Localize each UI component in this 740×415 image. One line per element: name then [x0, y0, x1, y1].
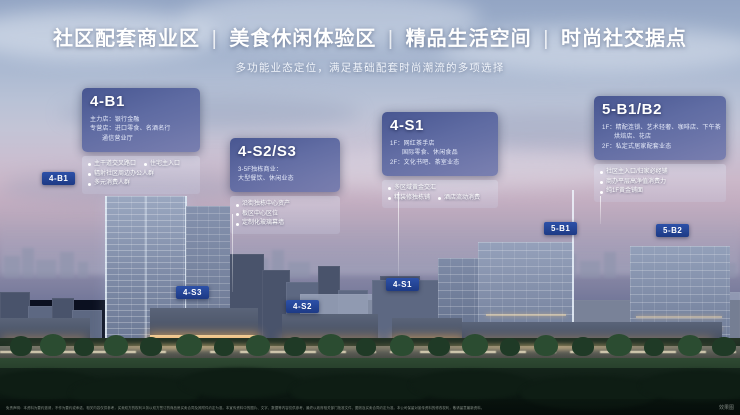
- detail-line: 3-5F独栋商业：: [238, 166, 332, 176]
- bullet-item: 定制化玻璃幕墙: [236, 219, 284, 229]
- detail-line: 2F：文化书吧、茶室业态: [390, 159, 490, 169]
- bullet-item: 酒店流动消费: [438, 194, 480, 204]
- callout-bullet-list: 社区主入口/归家必经铺 商办平层高净值消费力 纯1F黄金铺面: [594, 164, 726, 202]
- leader-line-5-b1: [600, 196, 601, 224]
- leader-line-4-s3: [232, 214, 233, 292]
- callout-code: 4-B1: [90, 94, 192, 111]
- detail-line: 大型餐饮、休闲业态: [238, 175, 332, 185]
- footer: 免责声明：本资料为要约邀请，不作为要约或承诺，相关内容仅供参考，买卖双方的权利义…: [0, 399, 740, 415]
- detail-line: 专营店：进口零食、名酒名行: [90, 125, 192, 135]
- callout-bullet-list: 多区域黄金交汇 精装修独栋铺 酒店流动消费: [382, 180, 498, 208]
- detail-line: 烘焙店、花店: [602, 133, 718, 143]
- bullet-item: 精装修独栋铺: [388, 194, 430, 204]
- building-tag-4-s1[interactable]: 4-S1: [386, 278, 419, 291]
- bullet-item: 住宅主入口: [144, 160, 180, 170]
- callout-detail-lines: 1F：网红茶手店 国际零食、休闲食品 2F：文化书吧、茶室业态: [390, 140, 490, 170]
- callout-bullet-list: 主干道交叉路口 住宅主入口 辐射社区周边办公人群 多元消费人群: [82, 156, 200, 194]
- building-tag-4-s3[interactable]: 4-S3: [176, 286, 209, 299]
- detail-line: 国际零食、休闲食品: [390, 149, 490, 159]
- callout-5-b1-b2[interactable]: 5-B1/B2 1F：精配连锁、艺术轻奢、咖啡店、下午茶 烘焙店、花店 2F：私…: [594, 96, 726, 202]
- callout-4-s2-s3[interactable]: 4-S2/S3 3-5F独栋商业： 大型餐饮、休闲业态 沿街独栋中心资产 板区中…: [230, 138, 340, 234]
- callout-4-s1[interactable]: 4-S1 1F：网红茶手店 国际零食、休闲食品 2F：文化书吧、茶室业态 多区域…: [382, 112, 498, 208]
- callout-card: 5-B1/B2 1F：精配连锁、艺术轻奢、咖啡店、下午茶 烘焙店、花店 2F：私…: [594, 96, 726, 160]
- title-separator-1: |: [212, 28, 218, 50]
- street-trees: [0, 330, 740, 356]
- callout-code: 4-S1: [390, 118, 490, 135]
- title-separator-3: |: [543, 28, 549, 50]
- disclaimer-text: 免责声明：本资料为要约邀请，不作为要约或承诺，相关内容仅供参考，买卖双方的权利义…: [0, 405, 719, 410]
- bullet-item: 纯1F黄金铺面: [600, 187, 643, 197]
- detail-line: 1F：网红茶手店: [390, 140, 490, 150]
- title-part-3: 精品生活空间: [406, 28, 532, 50]
- detail-line: 2F：私定式居家配套业态: [602, 143, 718, 153]
- building-tag-4-s2[interactable]: 4-S2: [286, 300, 319, 313]
- rendering-canvas: 社区配套商业区 | 美食休闲体验区 | 精品生活空间 | 时尚社交据点 多功能业…: [0, 0, 740, 415]
- callout-detail-lines: 主力店：银行金融 专营店：进口零食、名酒名行 通信营业厅: [90, 116, 192, 146]
- callout-code: 4-S2/S3: [238, 144, 332, 161]
- bullet-item: 辐射社区周边办公人群: [88, 170, 154, 180]
- bullet-item: 主干道交叉路口: [88, 160, 136, 170]
- bullet-item: 商办平层高净值消费力: [600, 178, 666, 188]
- detail-line: 主力店：银行金融: [90, 116, 192, 126]
- title-part-2: 美食休闲体验区: [229, 28, 376, 50]
- page-title: 社区配套商业区 | 美食休闲体验区 | 精品生活空间 | 时尚社交据点: [0, 22, 740, 51]
- bullet-item: 社区主入口/归家必经铺: [600, 168, 668, 178]
- callout-detail-lines: 3-5F独栋商业： 大型餐饮、休闲业态: [238, 166, 332, 186]
- page-subtitle: 多功能业态定位，满足基础配套时尚潮流的多项选择: [0, 60, 740, 75]
- building-tag-4-b1[interactable]: 4-B1: [42, 172, 75, 185]
- watermark-label: 效果图: [719, 404, 740, 411]
- callout-detail-lines: 1F：精配连锁、艺术轻奢、咖啡店、下午茶 烘焙店、花店 2F：私定式居家配套业态: [602, 124, 718, 154]
- callout-code: 5-B1/B2: [602, 102, 718, 119]
- callout-4-b1[interactable]: 4-B1 主力店：银行金融 专营店：进口零食、名酒名行 通信营业厅 主干道交叉路…: [82, 88, 200, 194]
- detail-line: 1F：精配连锁、艺术轻奢、咖啡店、下午茶: [602, 124, 718, 134]
- title-part-4: 时尚社交据点: [561, 28, 687, 50]
- detail-line: 通信营业厅: [90, 135, 192, 145]
- bullet-item: 多元消费人群: [88, 179, 130, 189]
- callout-card: 4-S2/S3 3-5F独栋商业： 大型餐饮、休闲业态: [230, 138, 340, 192]
- callout-bullet-list: 沿街独栋中心资产 板区中心区位 定制化玻璃幕墙: [230, 196, 340, 234]
- callout-card: 4-S1 1F：网红茶手店 国际零食、休闲食品 2F：文化书吧、茶室业态: [382, 112, 498, 176]
- bullet-item: 多区域黄金交汇: [388, 184, 436, 194]
- title-part-1: 社区配套商业区: [53, 28, 200, 50]
- callout-card: 4-B1 主力店：银行金融 专营店：进口零食、名酒名行 通信营业厅: [82, 88, 200, 152]
- building-tag-5-b2[interactable]: 5-B2: [656, 224, 689, 237]
- leader-line-4-s1: [398, 192, 399, 276]
- header: 社区配套商业区 | 美食休闲体验区 | 精品生活空间 | 时尚社交据点 多功能业…: [0, 0, 740, 75]
- building-tag-5-b1[interactable]: 5-B1: [544, 222, 577, 235]
- bullet-item: 板区中心区位: [236, 210, 278, 220]
- title-separator-2: |: [388, 28, 394, 50]
- bullet-item: 沿街独栋中心资产: [236, 200, 290, 210]
